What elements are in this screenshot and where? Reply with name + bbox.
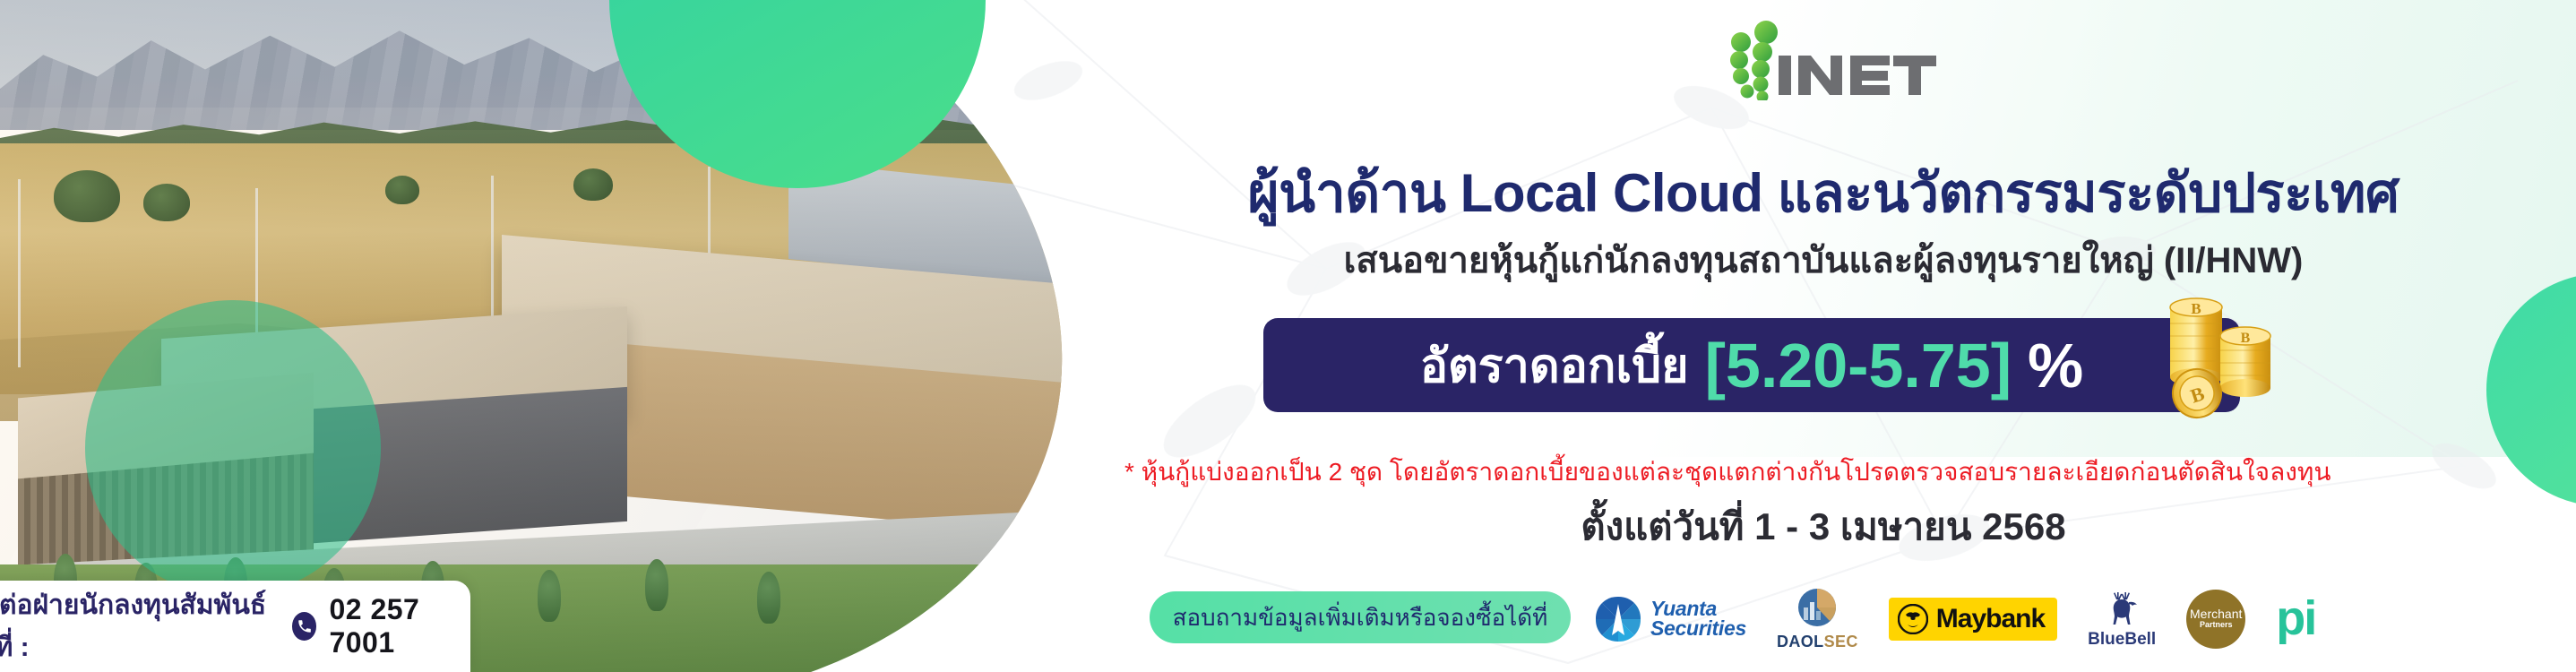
- interest-rate-box: อัตราดอกเบี้ย [5.20-5.75] %: [1263, 318, 2240, 412]
- interest-rate-value: [5.20-5.75]: [1705, 334, 2012, 397]
- svg-text:B: B: [2191, 300, 2201, 317]
- offer-period-date: ตั้งแต่วันที่ 1 - 3 เมษายน 2568: [1187, 497, 2460, 556]
- gold-coin-stack-icon: B B B: [2150, 289, 2294, 424]
- phone-icon: [292, 612, 316, 641]
- partner-logo-maybank[interactable]: Maybank: [1889, 598, 2057, 641]
- bluebell-deer-icon: [2100, 590, 2143, 629]
- yuanta-line2: Securities: [1650, 619, 1746, 639]
- decor-green-circle-overlay: [85, 300, 381, 596]
- more-info-button[interactable]: สอบถามข้อมูลเพิ่มเติมหรือจองซื้อได้ที่: [1150, 591, 1571, 643]
- page-title: ผู้นำด้าน Local Cloud และนวัตกรรมระดับปร…: [1187, 151, 2460, 236]
- partner-logo-bluebell[interactable]: BlueBell: [2088, 590, 2156, 650]
- daol-line2: SEC: [1824, 633, 1858, 650]
- merchant-line2: Partners: [2200, 620, 2233, 631]
- inet-dots-logo: [1730, 21, 1778, 100]
- merchant-line1: Merchant: [2190, 607, 2242, 620]
- pi-wordmark: pi: [2276, 599, 2315, 638]
- daol-line1: DAOL: [1777, 633, 1824, 650]
- investor-relations-contact: ติดต่อฝ่ายนักลงทุนสัมพันธ์ได้ที่ : 02 25…: [0, 581, 470, 672]
- disclaimer-footnote: * หุ้นกู้แบ่งออกเป็น 2 ชุด โดยอัตราดอกเบ…: [1124, 452, 2558, 492]
- partner-logo-merchant-partners[interactable]: Merchant Partners: [2186, 590, 2245, 649]
- partner-logo-daol[interactable]: DAOLSEC: [1777, 588, 1858, 651]
- bluebell-wordmark: BlueBell: [2088, 630, 2156, 650]
- page-subtitle: เสนอขายหุ้นกู้แก่นักลงทุนสถาบันและผู้ลงท…: [1187, 231, 2460, 289]
- partner-logo-yuanta[interactable]: Yuanta Securities: [1595, 596, 1746, 642]
- inet-debenture-banner: INET ผู้นำด้าน Local Cloud และนวัตกรรมระ…: [0, 0, 2576, 672]
- interest-rate-label: อัตราดอกเบี้ย: [1420, 328, 1689, 402]
- svg-text:B: B: [2241, 331, 2251, 346]
- yuanta-star-icon: [1595, 596, 1641, 642]
- daol-pie-icon: [1794, 588, 1840, 631]
- interest-rate-unit: %: [2028, 334, 2083, 397]
- inet-logo: INET: [1662, 20, 1949, 100]
- partner-logo-row: Yuanta Securities DAOLSEC: [1595, 581, 2315, 658]
- maybank-tiger-icon: [1898, 604, 1928, 634]
- contact-phone-number: 02 257 7001: [329, 593, 470, 659]
- interest-rate-banner: อัตราดอกเบี้ย [5.20-5.75] % B: [1263, 318, 2321, 412]
- contact-label: ติดต่อฝ่ายนักลงทุนสัมพันธ์ได้ที่ :: [0, 584, 280, 668]
- partner-logo-pi[interactable]: pi: [2276, 599, 2315, 638]
- maybank-wordmark: Maybank: [1936, 604, 2045, 634]
